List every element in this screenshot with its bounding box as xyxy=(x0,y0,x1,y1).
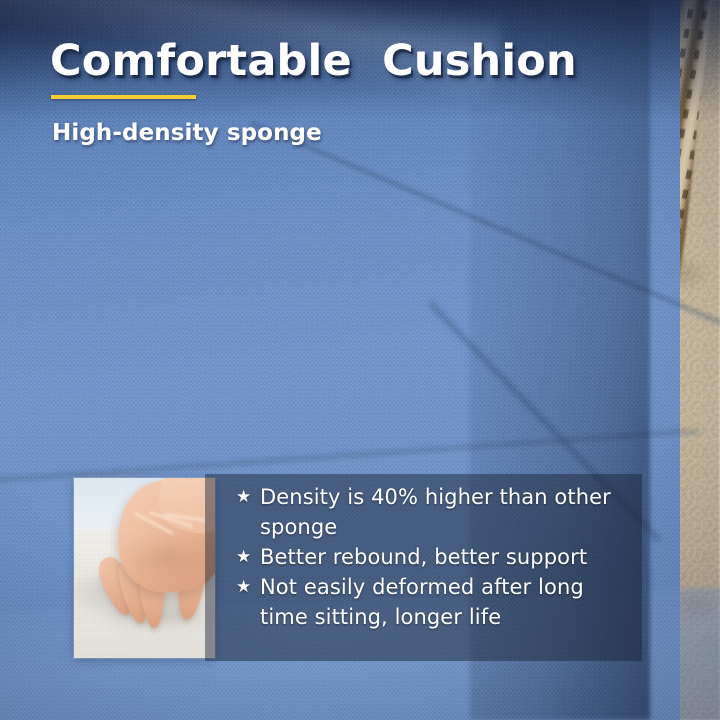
star-icon: ★ xyxy=(236,482,260,512)
title-underline xyxy=(51,95,196,99)
page-title: Comfortable Cushion xyxy=(50,36,577,86)
list-item-text: Density is 40% higher than other sponge xyxy=(260,482,636,542)
feature-bullet-list: ★ Density is 40% higher than other spong… xyxy=(236,482,636,632)
list-item: ★ Better rebound, better support xyxy=(236,542,636,572)
product-feature-image: Comfortable Cushion High-density sponge … xyxy=(0,0,720,720)
star-icon: ★ xyxy=(236,572,260,602)
list-item-text: Not easily deformed after long time sitt… xyxy=(260,572,636,632)
list-item: ★ Density is 40% higher than other spong… xyxy=(236,482,636,542)
list-item: ★ Not easily deformed after long time si… xyxy=(236,572,636,632)
subtitle: High-density sponge xyxy=(52,120,322,146)
list-item-text: Better rebound, better support xyxy=(260,542,636,572)
inset-photo-border xyxy=(74,478,215,658)
star-icon: ★ xyxy=(236,542,260,572)
